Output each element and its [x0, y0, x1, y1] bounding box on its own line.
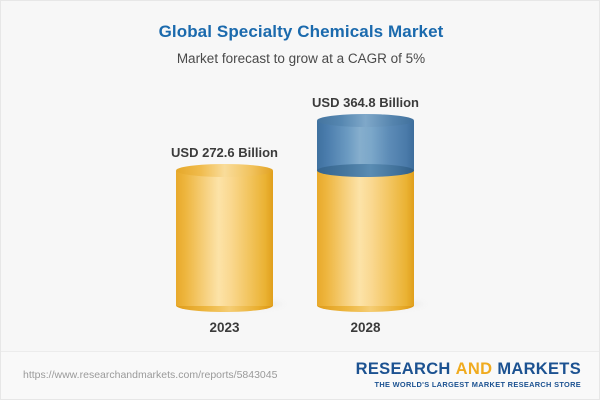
- cylinder-base-segment-2028: [317, 171, 414, 306]
- cylinder-2028: [317, 121, 414, 306]
- brand-logo-word-and: AND: [456, 360, 493, 378]
- bar-category-label-2028: 2028: [350, 320, 380, 335]
- bar-group-2028: USD 364.8 Billion 2028: [317, 116, 414, 306]
- brand-logo-word-research: RESEARCH: [356, 360, 451, 378]
- cylinder-body-2023: [176, 171, 273, 306]
- cylinder-top-cap-2028: [317, 114, 414, 127]
- cylinder-segment-divider-2028: [317, 164, 414, 177]
- brand-logo[interactable]: RESEARCHANDMARKETS THE WORLD'S LARGEST M…: [356, 360, 581, 389]
- source-url[interactable]: https://www.researchandmarkets.com/repor…: [23, 369, 277, 381]
- cylinder-top-cap-2023: [176, 164, 273, 177]
- bar-value-label-2023: USD 272.6 Billion: [171, 145, 278, 160]
- bar-group-2023: USD 272.6 Billion 2023: [176, 166, 273, 306]
- chart-footer: https://www.researchandmarkets.com/repor…: [1, 351, 600, 399]
- brand-logo-wordmark: RESEARCHANDMARKETS: [356, 360, 581, 379]
- bar-value-label-2028: USD 364.8 Billion: [312, 95, 419, 110]
- cylinder-2023: [176, 171, 273, 306]
- chart-card: Global Specialty Chemicals Market Market…: [0, 0, 600, 400]
- brand-logo-word-markets: MARKETS: [497, 360, 581, 378]
- chart-plot-area: USD 272.6 Billion 2023 USD 364.8 Billion…: [1, 1, 600, 353]
- brand-logo-tagline: THE WORLD'S LARGEST MARKET RESEARCH STOR…: [356, 380, 581, 389]
- bar-category-label-2023: 2023: [209, 320, 239, 335]
